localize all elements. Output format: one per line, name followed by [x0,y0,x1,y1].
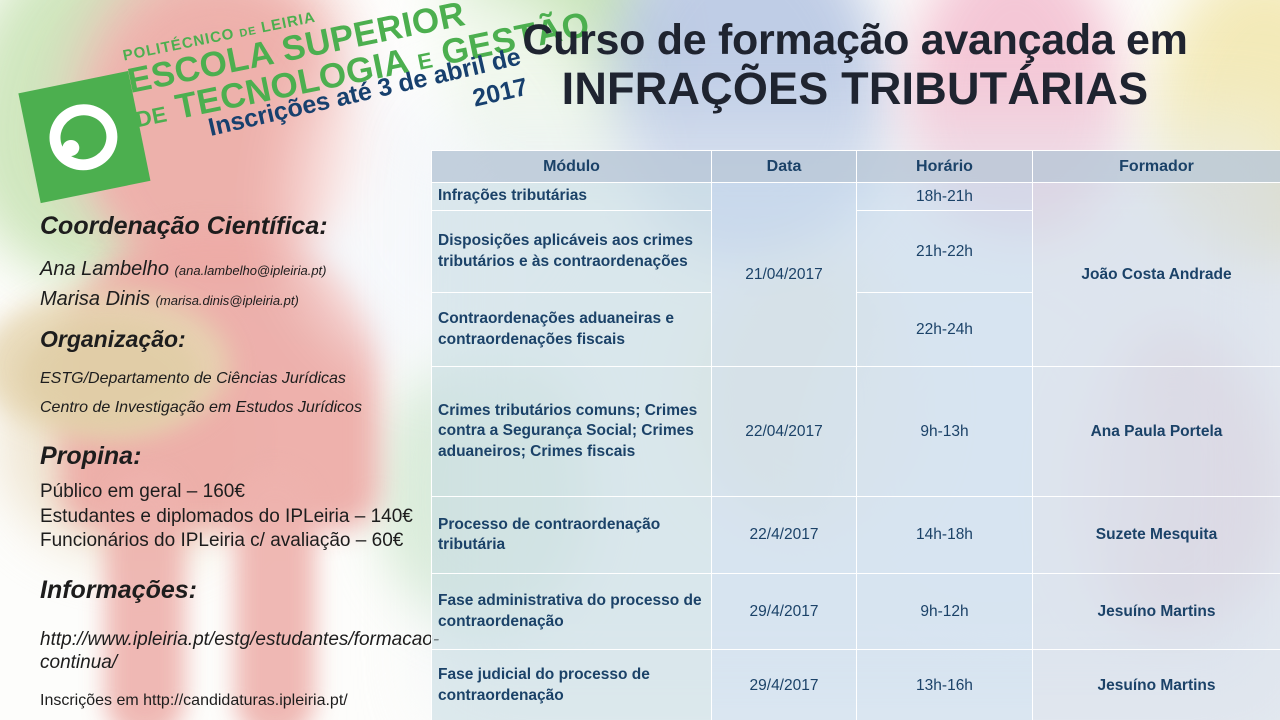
coordinator-entry: Ana Lambelho (ana.lambelho@ipleiria.pt) [40,258,440,281]
cell-horario: 9h-13h [857,367,1033,497]
organization-heading: Organização: [40,326,440,353]
fee-heading: Propina: [40,442,440,471]
fee-item: Público em geral – 160€ [40,480,440,505]
cell-horario: 18h-21h [857,183,1033,211]
organization-item: Centro de Investigação em Estudos Jurídi… [40,399,440,417]
cell-modulo: Processo de contraordenação tributária [432,497,712,574]
coordination-heading: Coordenação Científica: [40,212,440,241]
column-header-formador: Formador [1033,151,1280,183]
cell-modulo: Crimes tributários comuns; Crimes contra… [432,367,712,497]
coordinator-email: (marisa.dinis@ipleiria.pt) [156,293,299,308]
table-row: Fase administrativa do processo de contr… [432,574,1280,650]
cell-modulo: Fase judicial do processo de contraorden… [432,650,712,720]
cell-data: 29/4/2017 [712,574,857,650]
coordinator-email: (ana.lambelho@ipleiria.pt) [175,263,327,278]
schedule-table: Módulo Data Horário Formador Infrações t… [431,150,1280,720]
fee-item: Estudantes e diplomados do IPLeiria – 14… [40,505,440,530]
coordinator-name: Marisa Dinis [40,288,150,310]
column-header-modulo: Módulo [432,151,712,183]
cell-data: 22/04/2017 [712,367,857,497]
column-header-data: Data [712,151,857,183]
cell-horario: 22h-24h [857,293,1033,367]
cell-horario: 21h-22h [857,211,1033,293]
table-row: Infrações tributárias 21/04/2017 18h-21h… [432,183,1280,211]
page-title-line2: INFRAÇÕES TRIBUTÁRIAS [455,64,1255,114]
table-row: Fase judicial do processo de contraorden… [432,650,1280,720]
cell-data: 21/04/2017 [712,183,857,367]
info-column: Coordenação Científica: Ana Lambelho (an… [40,212,440,710]
cell-modulo: Infrações tributárias [432,183,712,211]
cell-horario: 9h-12h [857,574,1033,650]
cell-formador: Ana Paula Portela [1033,367,1280,497]
table-row: Crimes tributários comuns; Crimes contra… [432,367,1280,497]
coordinator-entry: Marisa Dinis (marisa.dinis@ipleiria.pt) [40,288,440,311]
cell-formador: João Costa Andrade [1033,183,1280,367]
cell-formador: Jesuíno Martins [1033,574,1280,650]
page-title-line1: Curso de formação avançada em [455,16,1255,64]
cell-data: 29/4/2017 [712,650,857,720]
information-heading: Informações: [40,576,440,605]
cell-modulo: Fase administrativa do processo de contr… [432,574,712,650]
column-header-horario: Horário [857,151,1033,183]
logo-line3-prefix: DE [134,101,170,132]
organization-item: ESTG/Departamento de Ciências Jurídicas [40,370,440,388]
coordinator-name: Ana Lambelho [40,258,169,280]
table-row: Processo de contraordenação tributária 2… [432,497,1280,574]
cell-formador: Suzete Mesquita [1033,497,1280,574]
cell-formador: Jesuíno Martins [1033,650,1280,720]
cell-data: 22/4/2017 [712,497,857,574]
registration-note[interactable]: Inscrições em http://candidaturas.ipleir… [40,692,440,710]
cell-modulo: Contraordenações aduaneiras e contraorde… [432,293,712,367]
cell-horario: 13h-16h [857,650,1033,720]
page-title: Curso de formação avançada em INFRAÇÕES … [455,16,1255,115]
information-url[interactable]: http://www.ipleiria.pt/estg/estudantes/f… [40,628,440,674]
table-header-row: Módulo Data Horário Formador [432,151,1280,183]
fee-item: Funcionários do IPLeiria c/ avaliação – … [40,529,440,554]
cell-horario: 14h-18h [857,497,1033,574]
cell-modulo: Disposições aplicáveis aos crimes tribut… [432,211,712,293]
